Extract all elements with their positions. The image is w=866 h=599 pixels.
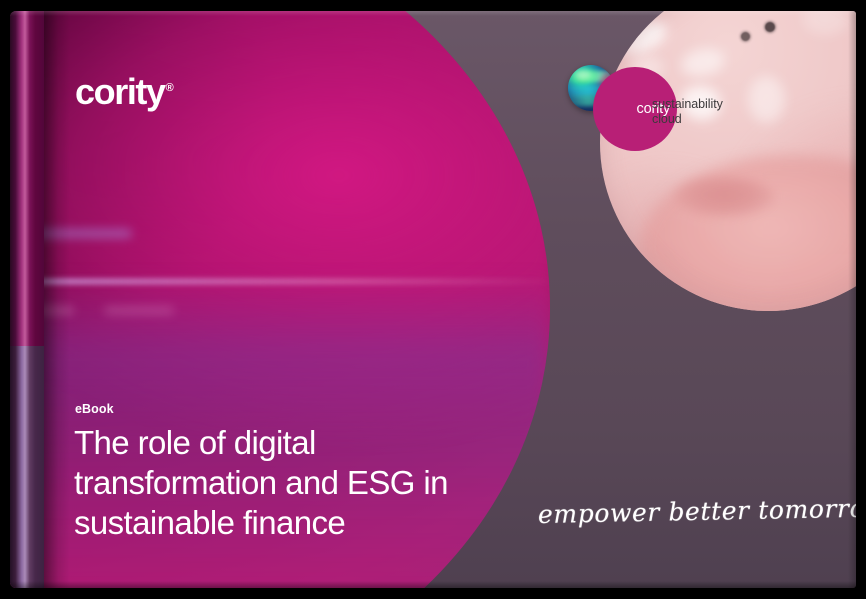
tagline: empower better tomorrows — [538, 493, 856, 529]
sphere-gloss — [575, 70, 591, 80]
piggy-bank-photo — [600, 11, 856, 311]
light-streak — [104, 307, 174, 314]
cority-logo: cority® — [75, 74, 174, 110]
title-line-3: sustainable finance — [74, 503, 494, 543]
content-type-label: eBook — [75, 402, 114, 416]
book-spine-lower — [10, 346, 44, 588]
book-cover-stage: cority sustainability cloud cority® eBoo… — [0, 0, 866, 599]
spine-shadow — [44, 11, 70, 588]
cover-bottom-edge — [10, 581, 856, 588]
badge-product-line-2: cloud — [652, 112, 723, 127]
light-streak-horizon — [10, 279, 550, 284]
ebook-cover[interactable]: cority sustainability cloud cority® eBoo… — [10, 11, 856, 588]
page-title: The role of digital transformation and E… — [74, 423, 494, 543]
badge-product-label: sustainability cloud — [652, 97, 723, 127]
badge-product-line-1: sustainability — [652, 97, 723, 112]
trademark-icon: ® — [166, 82, 174, 94]
title-line-1: The role of digital — [74, 423, 494, 463]
cover-top-sheen — [10, 11, 856, 16]
title-line-2: transformation and ESG in — [74, 463, 494, 503]
cover-right-edge — [848, 11, 856, 588]
cority-logo-text: cority — [75, 71, 165, 112]
